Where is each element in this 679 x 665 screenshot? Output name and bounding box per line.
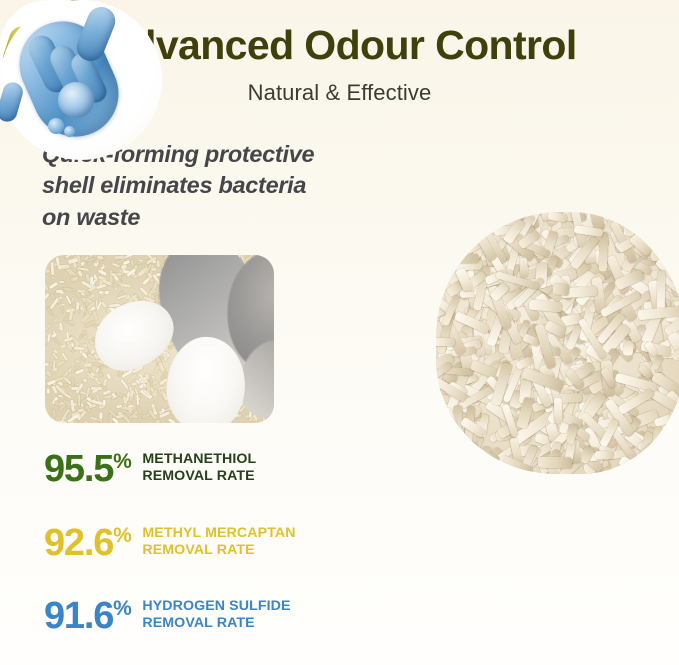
litter-pellet <box>49 282 58 289</box>
litter-pellet <box>60 305 64 313</box>
litter-pellet <box>156 420 160 423</box>
stat-percent-1: % <box>113 525 131 546</box>
litter-pellet <box>51 337 60 345</box>
litter-pellet <box>75 359 81 363</box>
stat-row-methyl-mercaptan: 92.6 % METHYL MERCAPTAN REMOVAL RATE <box>44 524 296 562</box>
litter-pellet <box>45 363 49 367</box>
litter-pellet <box>45 370 52 378</box>
stat-value-0: 95.5 <box>44 450 113 488</box>
litter-pellet <box>79 391 86 395</box>
litter-pellet <box>56 290 63 293</box>
stat-value-2: 91.6 <box>44 597 113 635</box>
infographic-page: Advanced Odour Control Natural & Effecti… <box>0 0 679 665</box>
litter-pellet <box>168 418 176 423</box>
stat-label-line2-2: REMOVAL RATE <box>142 615 290 632</box>
litter-pellet <box>140 287 149 296</box>
litter-pellet <box>97 418 104 423</box>
stat-value-group-1: 92.6 % <box>44 524 131 562</box>
litter-pellet <box>60 343 67 348</box>
pellet-stick <box>657 270 666 312</box>
stat-label-line1-2: HYDROGEN SULFIDE <box>142 598 290 615</box>
litter-pellet <box>45 323 52 331</box>
litter-pellet <box>157 260 160 267</box>
pellet-stick <box>538 456 572 467</box>
pellet-stick <box>554 397 563 424</box>
litter-pellet <box>130 260 134 267</box>
stat-value-1: 92.6 <box>44 524 113 562</box>
stat-label-line2-1: REMOVAL RATE <box>142 542 295 559</box>
pellet-stick <box>552 283 570 296</box>
headline-line-2: shell eliminates bacteria <box>42 170 402 201</box>
pellet-mound <box>436 212 679 474</box>
pellet-stick <box>595 451 613 459</box>
stat-value-group-0: 95.5 % <box>44 450 131 488</box>
litter-pellet <box>53 262 57 267</box>
pellet-stick <box>519 257 528 277</box>
cat-paw-photo <box>45 255 274 423</box>
pellet-stick <box>436 338 456 346</box>
headline-line-3: on waste <box>42 202 402 233</box>
stat-label-line1-0: METHANETHIOL <box>142 451 256 468</box>
litter-pellet <box>59 280 64 283</box>
blue-bacteria-dot-1 <box>48 118 64 134</box>
litter-pellet <box>63 287 73 291</box>
litter-pellet <box>74 310 80 313</box>
stat-label-0: METHANETHIOL REMOVAL RATE <box>142 451 256 486</box>
litter-pellet <box>45 293 49 300</box>
litter-pellet <box>107 373 112 380</box>
litter-pellet <box>151 282 158 292</box>
litter-pellet <box>97 255 103 259</box>
litter-pellet <box>78 395 80 407</box>
litter-pellet <box>66 331 69 338</box>
litter-pellet <box>131 382 137 385</box>
litter-pellet <box>53 317 58 323</box>
pellet-pile-photo <box>424 206 679 484</box>
litter-pellet <box>76 302 80 315</box>
stat-label-2: HYDROGEN SULFIDE REMOVAL RATE <box>142 598 290 633</box>
litter-pellet <box>120 284 132 289</box>
litter-pellet <box>99 372 104 378</box>
litter-pellet <box>85 335 88 340</box>
litter-pellet <box>51 276 57 281</box>
litter-pellet <box>84 421 88 423</box>
stat-label-line2-0: REMOVAL RATE <box>142 468 256 485</box>
litter-pellet <box>77 270 83 277</box>
litter-pellet <box>59 323 64 331</box>
litter-pellet <box>247 421 254 423</box>
pellet-stick <box>436 253 479 263</box>
litter-pellet <box>45 341 48 348</box>
stat-percent-2: % <box>113 598 131 619</box>
litter-pellet <box>92 310 98 321</box>
litter-pellet <box>83 379 88 382</box>
stat-value-group-2: 91.6 % <box>44 597 131 635</box>
stat-label-line1-1: METHYL MERCAPTAN <box>142 525 295 542</box>
blue-bacteria-dot-2 <box>64 126 75 137</box>
litter-pellet <box>121 406 133 411</box>
stat-label-1: METHYL MERCAPTAN REMOVAL RATE <box>142 525 295 560</box>
stat-row-methanethiol: 95.5 % METHANETHIOL REMOVAL RATE <box>44 450 256 488</box>
litter-pellet <box>56 360 65 367</box>
litter-pellet <box>98 269 107 276</box>
litter-pellet <box>132 415 138 419</box>
litter-pellet <box>45 283 48 291</box>
blue-bacteria-sphere <box>58 82 94 118</box>
litter-pellet <box>79 334 83 340</box>
litter-pellet <box>57 420 67 423</box>
litter-pellet <box>58 395 63 398</box>
stat-row-hydrogen-sulfide: 91.6 % HYDROGEN SULFIDE REMOVAL RATE <box>44 597 291 635</box>
litter-pellet <box>69 310 73 320</box>
litter-pellet <box>142 278 150 285</box>
litter-pellet <box>52 409 56 418</box>
litter-pellet <box>103 399 106 406</box>
litter-pellet <box>71 387 79 390</box>
litter-pellet <box>74 346 84 350</box>
stat-percent-0: % <box>113 451 131 472</box>
litter-pellet <box>45 269 51 274</box>
litter-pellet <box>96 284 106 289</box>
